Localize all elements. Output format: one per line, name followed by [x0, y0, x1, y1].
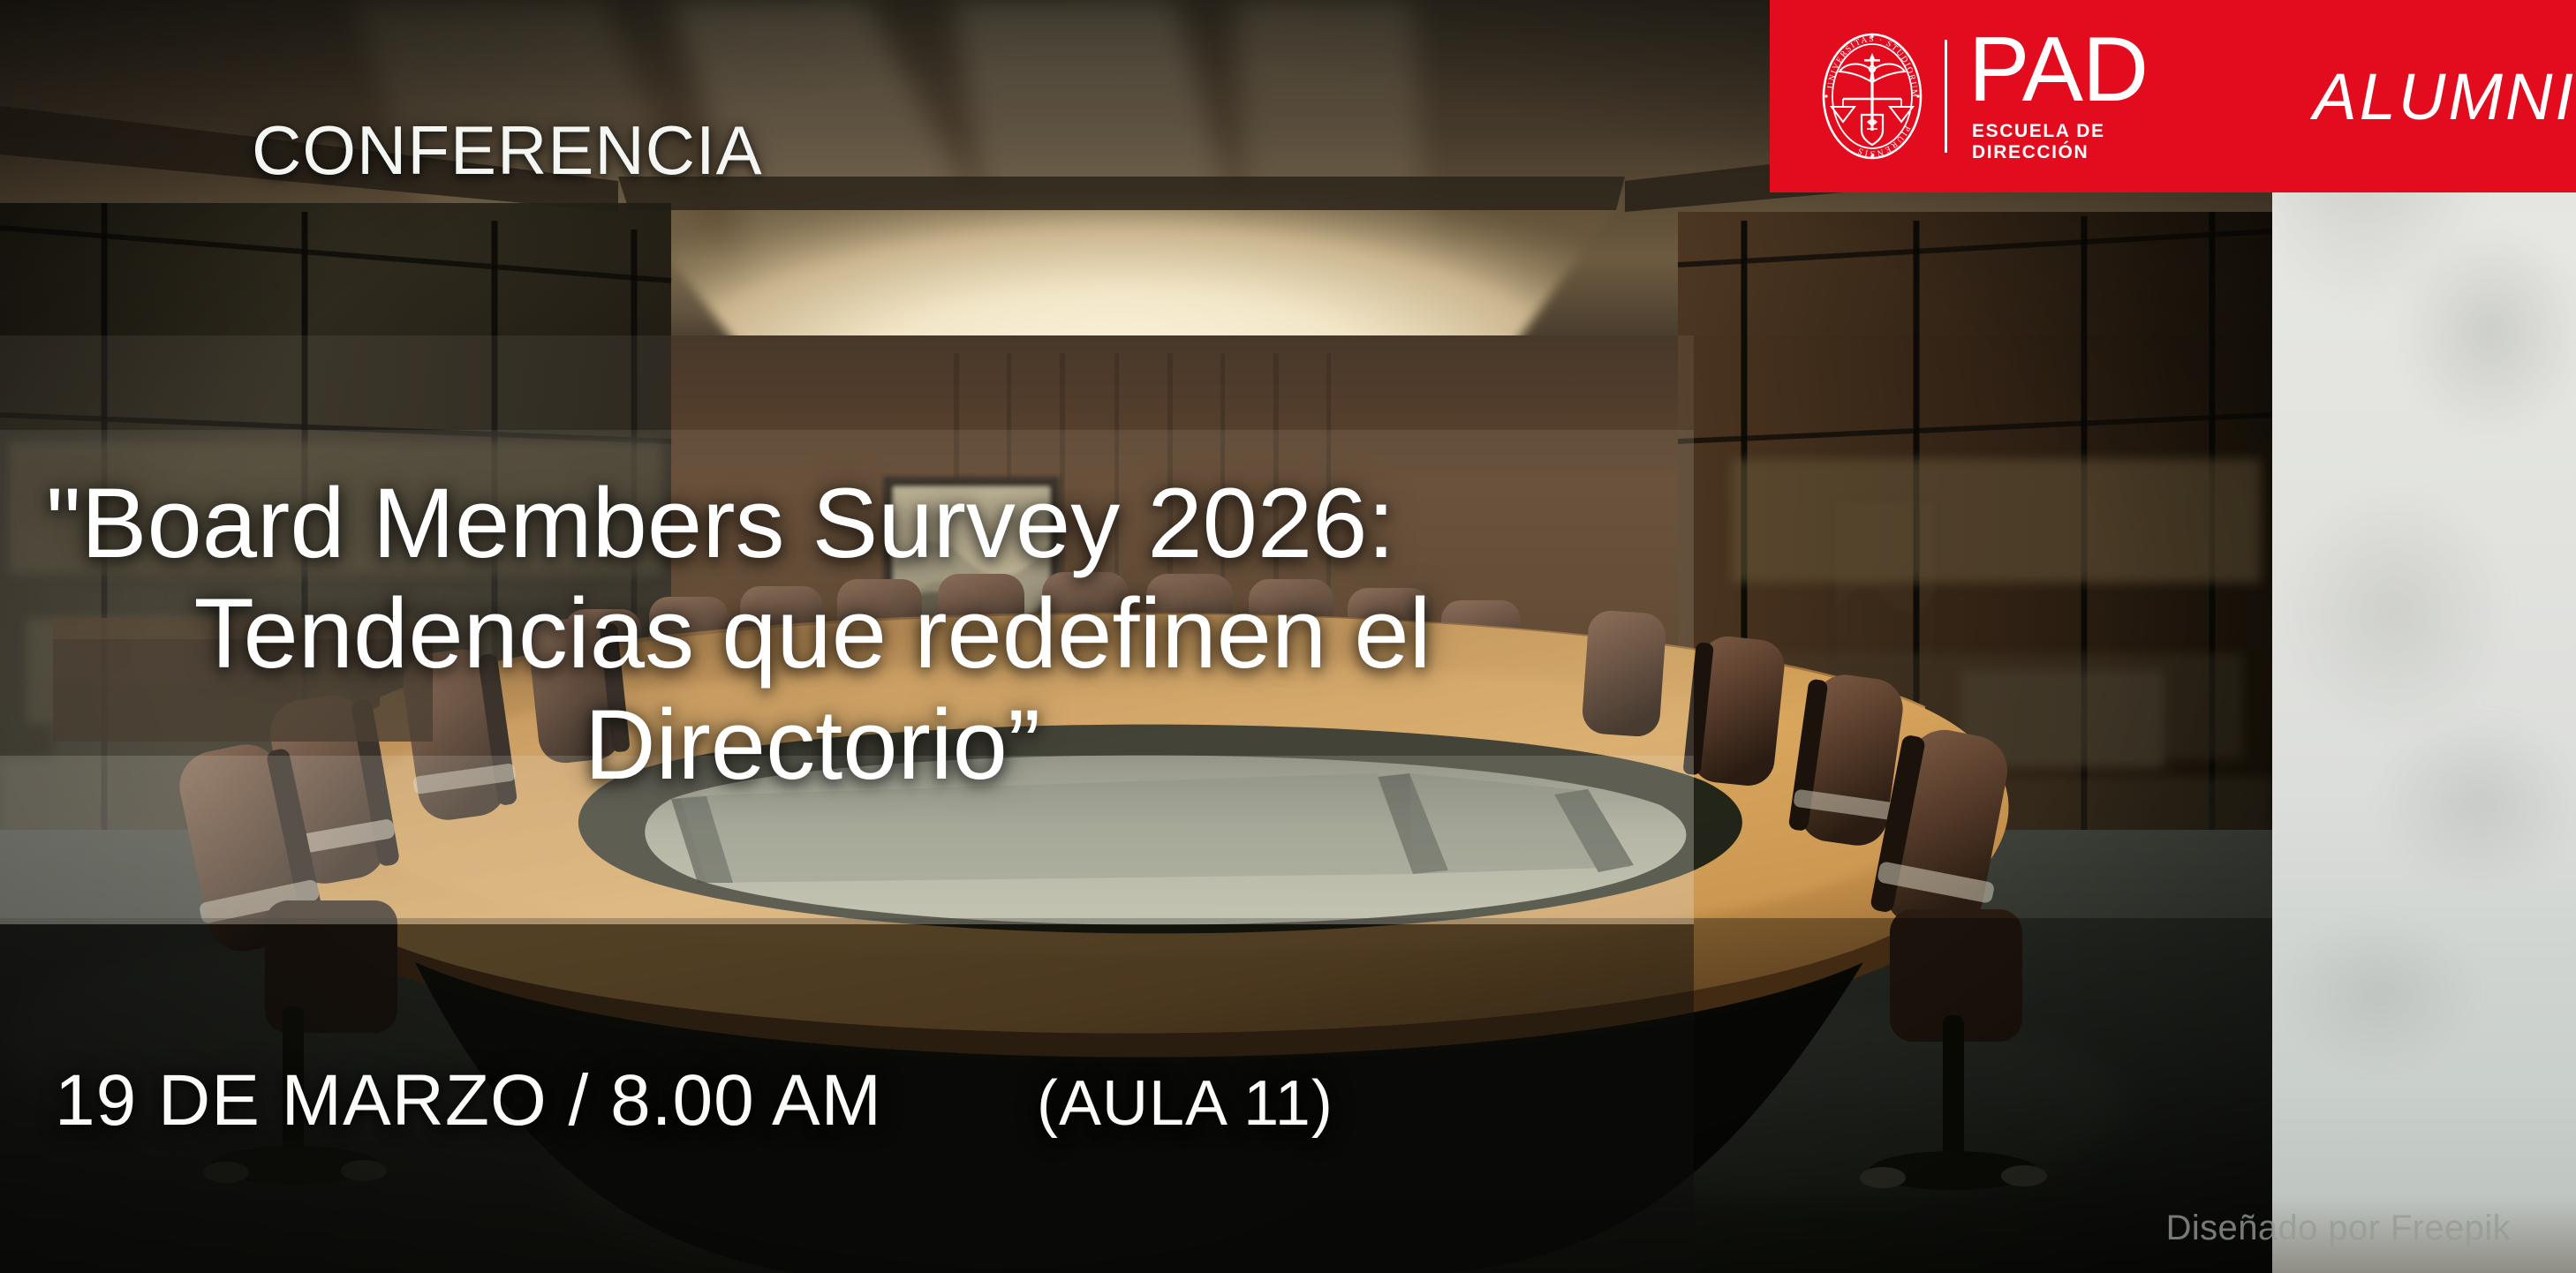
event-title-line-3: Directorio”	[0, 689, 1590, 800]
event-title-line-1: "Board Members Survey 2026:	[0, 468, 1590, 578]
brand-banner: UNIVERSITAS · STUDIORUM PIURENSIS	[1770, 0, 2576, 192]
event-title: "Board Members Survey 2026: Tendencias q…	[0, 468, 1590, 800]
kicker-label: CONFERENCIA	[252, 110, 763, 191]
alumni-label: ALUMNI	[2313, 59, 2576, 134]
brand-name: PAD	[1968, 29, 2148, 112]
conference-poster: CONFERENCIA "Board Members Survey 2026: …	[0, 0, 2576, 1273]
image-credit: Diseñado por Freepik	[2166, 1209, 2511, 1248]
brand-lockup: PAD ESCUELA DE DIRECCIÓN	[1968, 29, 2209, 163]
university-seal-icon: UNIVERSITAS · STUDIORUM PIURENSIS	[1816, 30, 1929, 162]
event-details-row: 19 DE MARZO / 8.00 AM (AULA 11)	[0, 1059, 1590, 1142]
event-title-line-2: Tendencias que redefinen el	[0, 578, 1590, 689]
brand-tagline: ESCUELA DE DIRECCIÓN	[1972, 121, 2209, 163]
brand-divider	[1945, 40, 1947, 153]
event-date-time: 19 DE MARZO / 8.00 AM	[55, 1059, 882, 1142]
event-room: (AULA 11)	[1037, 1067, 1333, 1140]
